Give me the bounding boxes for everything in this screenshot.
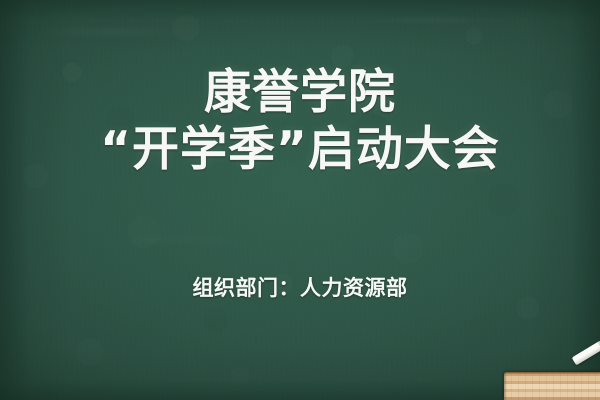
- slide-content: 康誉学院 “开学季”启动大会 组织部门：人力资源部: [0, 0, 600, 400]
- slide-title: 康誉学院 “开学季”启动大会: [0, 64, 600, 178]
- wooden-chalk-tray: [504, 372, 600, 400]
- slide-subtitle: 组织部门：人力资源部: [0, 274, 600, 302]
- title-slide: 康誉学院 “开学季”启动大会 组织部门：人力资源部: [0, 0, 600, 400]
- title-line-2: “开学季”启动大会: [0, 121, 600, 178]
- title-line-1: 康誉学院: [0, 64, 600, 121]
